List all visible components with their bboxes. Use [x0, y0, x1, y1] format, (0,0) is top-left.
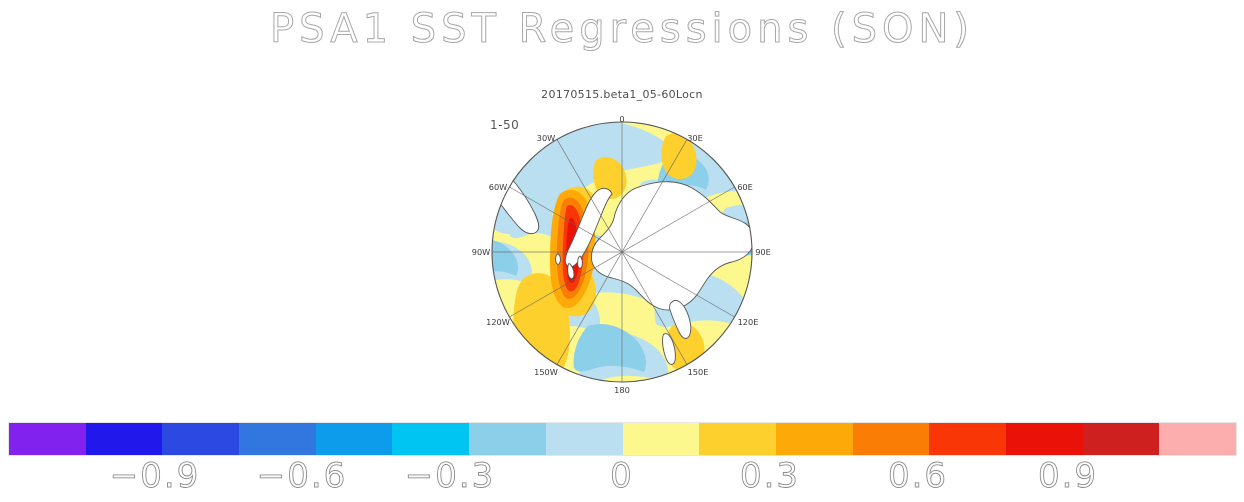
colorbar-tick-neg0_9: −0.9: [110, 456, 201, 496]
map-panel: 20170515.beta1_05-60Locn 1-50: [420, 88, 824, 400]
colorbar-tick-0_6: 0.6: [888, 456, 948, 496]
colorbar-seg-blue-light: [316, 423, 393, 455]
polar-stereographic-map: 0 30E 60E 90E 120E 150E 180 150W 120W 90…: [420, 88, 824, 400]
lon-label-30E: 30E: [687, 133, 703, 143]
lon-label-90E: 90E: [755, 247, 771, 257]
page-title: PSA1 SST Regressions (SON): [0, 6, 1244, 52]
colorbar-seg-blue-mid: [239, 423, 316, 455]
map-canvas: 0 30E 60E 90E 120E 150E 180 150W 120W 90…: [420, 88, 824, 400]
colorbar-seg-blue-palest: [546, 423, 623, 455]
lon-label-60E: 60E: [737, 182, 753, 192]
lon-label-90W: 90W: [472, 247, 491, 257]
colorbar-seg-cyan-pale: [469, 423, 546, 455]
colorbar-seg-red: [1006, 423, 1083, 455]
colorbar-seg-cyan: [392, 423, 469, 455]
lon-label-180: 180: [614, 385, 630, 395]
colorbar-seg-red-dark: [1083, 423, 1160, 455]
colorbar-tick-neg0_6: −0.6: [257, 456, 348, 496]
lon-label-150W: 150W: [534, 367, 558, 377]
colorbar-seg-blue: [162, 423, 239, 455]
colorbar-seg-pink-pale: [1159, 423, 1236, 455]
colorbar-tick-0: 0: [610, 456, 634, 496]
colorbar-tick-labels: −0.9−0.6−0.300.30.60.9: [0, 456, 1244, 502]
colorbar: [8, 422, 1237, 456]
colorbar-seg-orange: [853, 423, 930, 455]
lon-label-120E: 120E: [738, 317, 759, 327]
lon-label-30W: 30W: [537, 133, 556, 143]
colorbar-seg-amber: [776, 423, 853, 455]
colorbar-tick-neg0_3: −0.3: [405, 456, 496, 496]
lon-label-150E: 150E: [688, 367, 709, 377]
colorbar-seg-purple: [9, 423, 86, 455]
lon-label-0: 0: [619, 114, 624, 124]
lon-label-60W: 60W: [489, 182, 508, 192]
colorbar-seg-yellow: [699, 423, 776, 455]
colorbar-seg-orange-deep: [929, 423, 1006, 455]
lon-label-120W: 120W: [486, 317, 510, 327]
colorbar-tick-0_3: 0.3: [740, 456, 800, 496]
colorbar-seg-yellow-pale: [623, 423, 700, 455]
colorbar-tick-0_9: 0.9: [1038, 456, 1098, 496]
colorbar-strip: [8, 422, 1237, 456]
colorbar-seg-blue-deep: [86, 423, 163, 455]
